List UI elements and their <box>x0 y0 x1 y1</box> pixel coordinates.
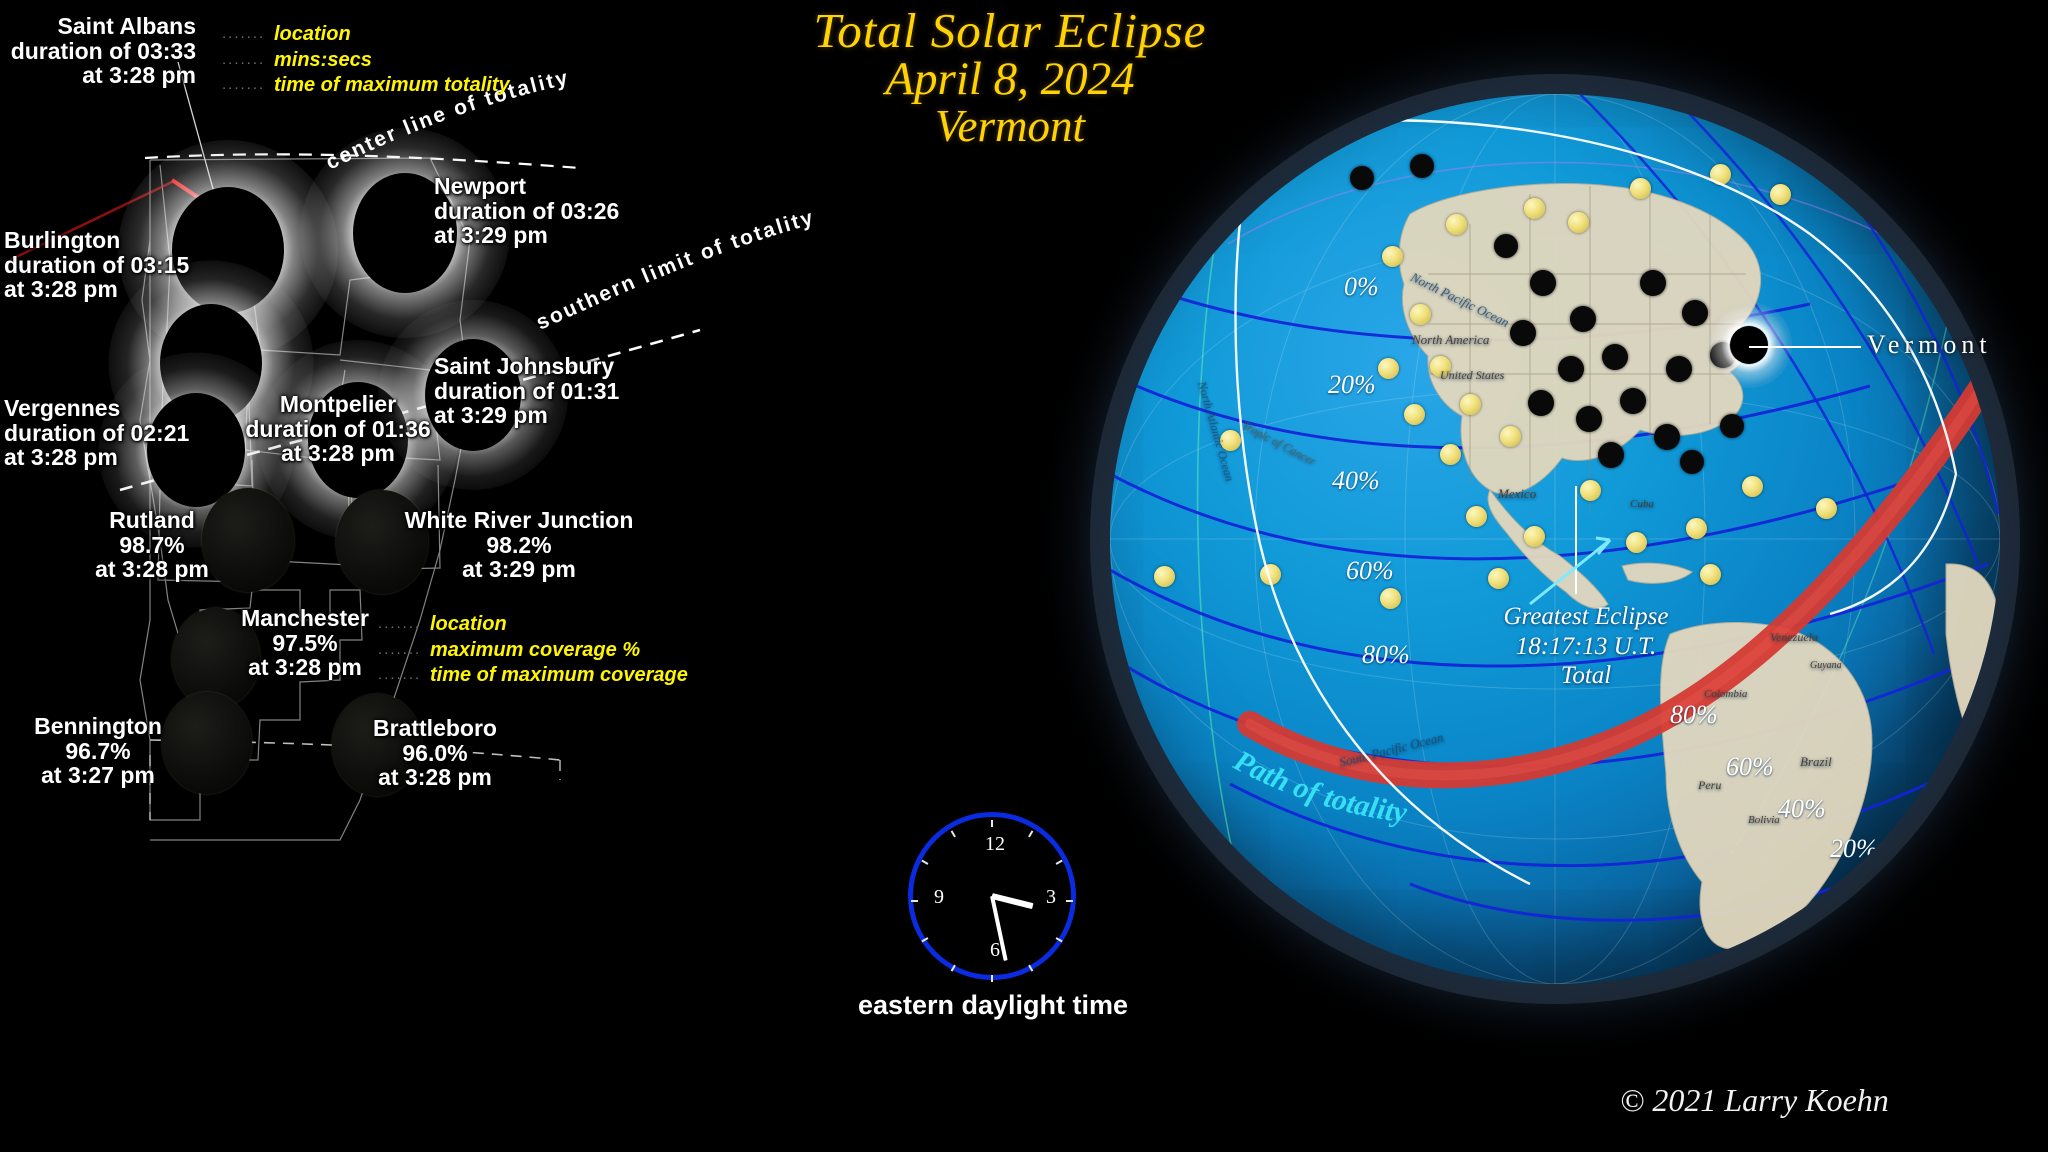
clock-face: 12 3 6 9 <box>908 812 1076 980</box>
city-name: Rutland <box>60 508 244 533</box>
vermont-leader-line <box>1749 346 1861 348</box>
city-duration: duration of 01:31 <box>434 379 619 404</box>
city-time: at 3:28 pm <box>352 765 518 790</box>
city-time: at 3:28 pm <box>226 441 450 466</box>
city-time: at 3:27 pm <box>14 763 182 788</box>
clock-hour-hand <box>991 893 1033 909</box>
city-coverage: 96.7% <box>14 739 182 764</box>
legend-dots: ....... <box>222 75 274 94</box>
clock-numeral-9: 9 <box>927 886 951 909</box>
city-coverage: 97.5% <box>234 631 376 656</box>
city-time: at 3:28 pm <box>60 557 244 582</box>
city-name: Manchester <box>234 606 376 631</box>
city-duration: duration of 03:26 <box>434 199 619 224</box>
legend-dots: ....... <box>222 50 274 69</box>
city-name: White River Junction <box>404 508 634 533</box>
city-coverage: 98.7% <box>60 533 244 558</box>
eclipse-region-boundary <box>1110 94 2000 984</box>
city-label-rutland: Rutland 98.7% at 3:28 pm <box>60 508 244 582</box>
legend-totality-row-2: mins:secs <box>274 49 372 71</box>
city-duration: duration of 02:21 <box>4 421 189 446</box>
legend-partial-row-2: maximum coverage % <box>430 639 640 661</box>
city-label-saint-johnsbury: Saint Johnsbury duration of 01:31 at 3:2… <box>434 354 619 428</box>
city-duration: duration of 03:33 <box>0 39 196 64</box>
legend-partial-row-3: time of maximum coverage <box>430 664 688 686</box>
city-label-newport: Newport duration of 03:26 at 3:29 pm <box>434 174 619 248</box>
legend-dots: ....... <box>378 614 430 633</box>
globe: 0% 20% 40% 60% 80% 80% 60% 40% 20% 0% Pa… <box>1110 94 2000 984</box>
city-time: at 3:28 pm <box>4 277 189 302</box>
legend-dots: ....... <box>378 665 430 684</box>
legend-totality: .......location .......mins:secs .......… <box>222 22 510 99</box>
city-label-burlington: Burlington duration of 03:15 at 3:28 pm <box>4 228 189 302</box>
legend-totality-row-3: time of maximum totality <box>274 74 510 96</box>
city-time: at 3:29 pm <box>404 557 634 582</box>
globe-panel: 0% 20% 40% 60% 80% 80% 60% 40% 20% 0% Pa… <box>1055 74 2025 1074</box>
city-time: at 3:28 pm <box>4 445 189 470</box>
city-label-vergennes: Vergennes duration of 02:21 at 3:28 pm <box>4 396 189 470</box>
city-time: at 3:29 pm <box>434 223 619 248</box>
city-label-bennington: Bennington 96.7% at 3:27 pm <box>14 714 182 788</box>
city-label-white-river-junction: White River Junction 98.2% at 3:29 pm <box>404 508 634 582</box>
city-time: at 3:28 pm <box>234 655 376 680</box>
city-name: Newport <box>434 174 619 199</box>
city-name: Burlington <box>4 228 189 253</box>
legend-dots: ....... <box>222 24 274 43</box>
city-label-manchester: Manchester 97.5% at 3:28 pm <box>234 606 376 680</box>
copyright-notice: © 2021 Larry Koehn <box>1620 1082 1889 1119</box>
city-time: at 3:29 pm <box>434 403 619 428</box>
legend-partial: .......location .......maximum coverage … <box>378 612 688 689</box>
city-duration: duration of 03:15 <box>4 253 189 278</box>
city-label-saint-albans: Saint Albans duration of 03:33 at 3:28 p… <box>0 14 196 88</box>
city-name: Vergennes <box>4 396 189 421</box>
city-label-montpelier: Montpelier duration of 01:36 at 3:28 pm <box>226 392 450 466</box>
city-name: Bennington <box>14 714 182 739</box>
city-coverage: 98.2% <box>404 533 634 558</box>
legend-dots: ....... <box>378 640 430 659</box>
city-name: Montpelier <box>226 392 450 417</box>
city-time: at 3:28 pm <box>0 63 196 88</box>
clock-numeral-12: 12 <box>983 833 1007 856</box>
legend-totality-row-1: location <box>274 23 351 45</box>
city-duration: duration of 01:36 <box>226 417 450 442</box>
city-name: Brattleboro <box>352 716 518 741</box>
city-coverage: 96.0% <box>352 741 518 766</box>
legend-partial-row-1: location <box>430 613 507 635</box>
eclipse-infographic: Total Solar Eclipse April 8, 2024 Vermon… <box>0 0 2048 1152</box>
vermont-label: Vermont <box>1867 330 1992 360</box>
city-name: Saint Johnsbury <box>434 354 619 379</box>
city-name: Saint Albans <box>0 14 196 39</box>
city-label-brattleboro: Brattleboro 96.0% at 3:28 pm <box>352 716 518 790</box>
